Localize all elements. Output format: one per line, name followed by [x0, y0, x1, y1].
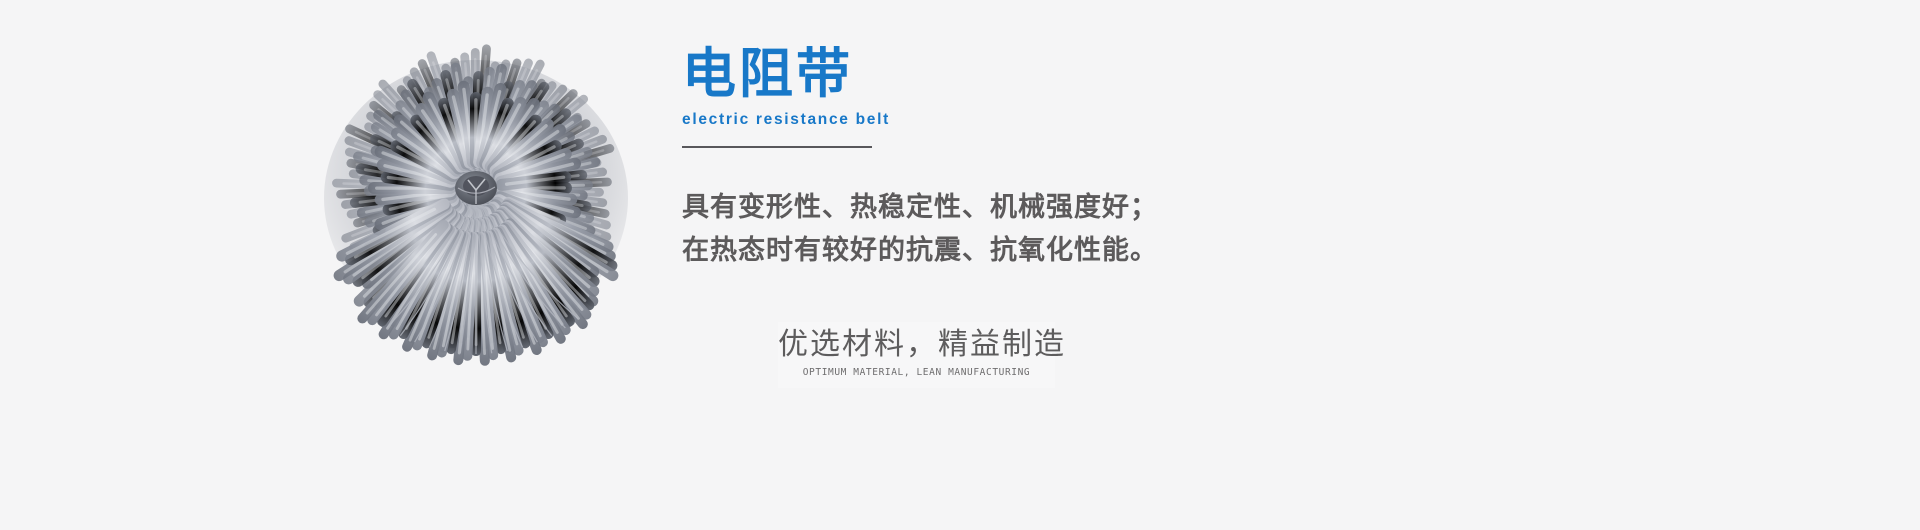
watermark-slogan-en: OPTIMUM MATERIAL, LEAN MANUFACTURING [778, 366, 1055, 380]
product-banner: 电阻带 electric resistance belt 具有变形性、热稳定性、… [0, 0, 1920, 530]
resistance-belt-illustration [300, 38, 660, 383]
center-hub [455, 171, 497, 205]
title-divider [682, 146, 872, 148]
product-image [300, 38, 660, 383]
description-line-1: 具有变形性、热稳定性、机械强度好； [682, 186, 1482, 229]
page-title: 电阻带 [682, 44, 1482, 104]
description-line-2: 在热态时有较好的抗震、抗氧化性能。 [682, 229, 1482, 272]
watermark-slogan-cn: 优选材料，精益制造 [778, 324, 1055, 366]
text-column: 电阻带 electric resistance belt 具有变形性、热稳定性、… [682, 44, 1482, 272]
brand-watermark: 优选材料，精益制造 OPTIMUM MATERIAL, LEAN MANUFAC… [778, 322, 1055, 388]
product-description: 具有变形性、热稳定性、机械强度好； 在热态时有较好的抗震、抗氧化性能。 [682, 186, 1482, 272]
page-subtitle: electric resistance belt [682, 111, 1482, 129]
